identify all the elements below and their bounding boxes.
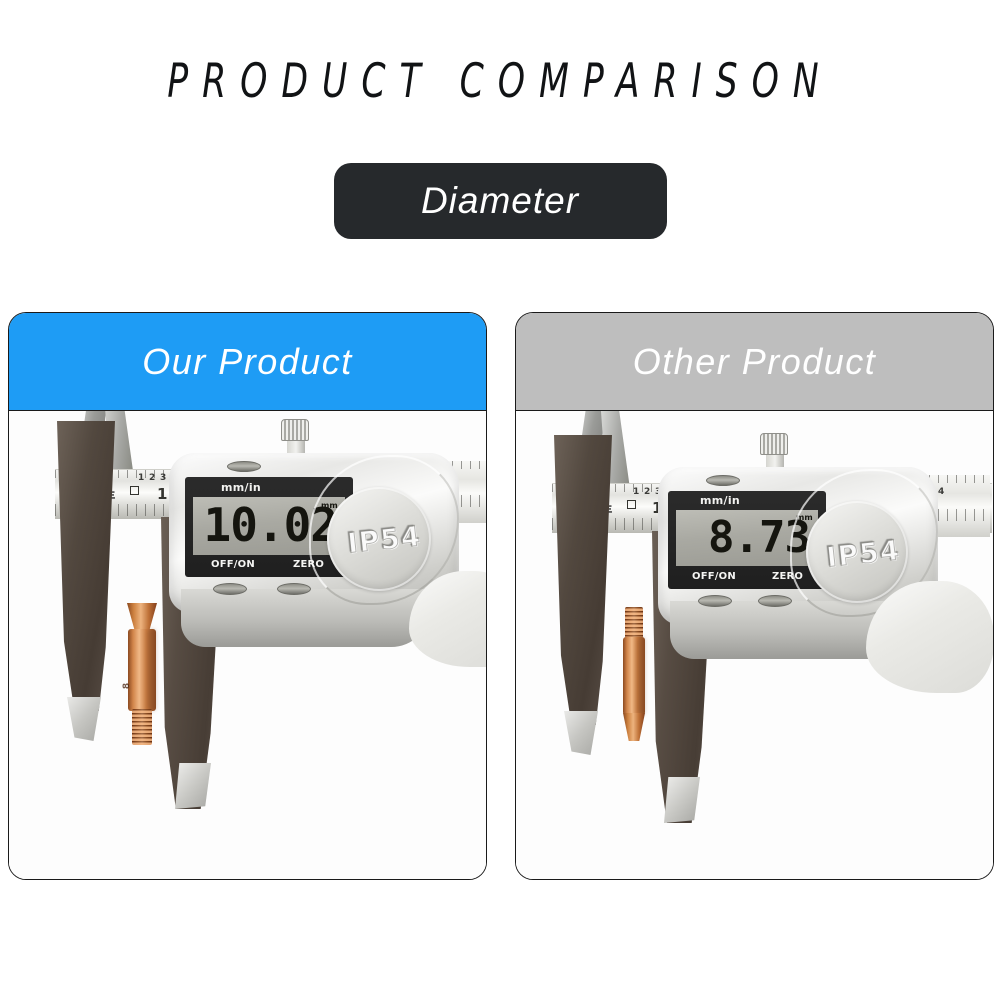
copper-contact-tip-other-product — [620, 607, 656, 747]
tip-cone-other — [623, 713, 645, 741]
badge-container: Diameter — [0, 163, 1000, 239]
caliper-square-mark-icon — [130, 486, 139, 495]
tip-marking: 8 — [122, 683, 132, 689]
page-title: PRODUCT COMPARISON — [90, 54, 910, 109]
tip-cone — [127, 603, 157, 631]
caliper-thumbwheel-other[interactable] — [760, 433, 788, 455]
scale-right-number-4-other: 4 — [938, 487, 944, 497]
scale-number-3: 3 — [160, 473, 166, 483]
caliper-thumbwheel[interactable] — [281, 419, 309, 441]
caliper-square-mark-icon-other — [627, 500, 636, 509]
caliper-zero-button-other[interactable] — [758, 595, 792, 607]
caliper-photo-our-product: X 梧丰 1 2 3 4 10 3 4 80 — [9, 411, 486, 879]
caliper-jaw-moving-tip-other — [664, 777, 700, 823]
scale-number-2-other: 2 — [644, 487, 650, 497]
scale-number-2: 2 — [149, 473, 155, 483]
card-body-our-product: X 梧丰 1 2 3 4 10 3 4 80 — [9, 411, 486, 879]
tip-thread-other — [625, 607, 643, 639]
caliper-top-button[interactable] — [227, 461, 261, 472]
caliper-jaw-fixed-tip-other — [564, 711, 598, 755]
caliper-jaw-fixed-tip — [67, 697, 101, 741]
caliper-jaw-moving-tip — [175, 763, 211, 809]
lcd-power-label: OFF/ON — [211, 559, 255, 570]
product-card-other-product: Other Product X 梧丰 1 2 3 4 — [515, 312, 994, 880]
card-header-our-product: Our Product — [9, 313, 486, 411]
caliper-top-button-other[interactable] — [706, 475, 740, 486]
caliper-power-button-other[interactable] — [698, 595, 732, 607]
caliper-jaw-fixed — [57, 421, 115, 711]
scale-number-1: 1 — [138, 473, 144, 483]
tip-shading — [147, 629, 156, 711]
attribute-badge-diameter: Diameter — [334, 163, 667, 239]
product-card-our-product: Our Product X 梧丰 1 — [8, 312, 487, 880]
caliper-jaw-fixed-other — [554, 435, 612, 725]
caliper-zero-button[interactable] — [277, 583, 311, 595]
lcd-mode-label-other: mm/in — [700, 494, 740, 507]
copper-contact-tip-our-product: 8 — [121, 603, 163, 751]
product-comparison-page: PRODUCT COMPARISON Diameter Our Product — [0, 0, 1000, 1000]
caliper-power-button[interactable] — [213, 583, 247, 595]
lcd-power-label-other: OFF/ON — [692, 571, 736, 582]
tip-thread — [132, 709, 152, 745]
caliper-photo-other-product: X 梧丰 1 2 3 4 10 3 4 80 — [516, 411, 993, 879]
tip-shading-other — [637, 637, 645, 715]
card-body-other-product: X 梧丰 1 2 3 4 10 3 4 80 — [516, 411, 993, 879]
lcd-mode-label: mm/in — [221, 481, 261, 494]
scale-number-1-other: 1 — [633, 487, 639, 497]
card-header-other-product: Other Product — [516, 313, 993, 411]
